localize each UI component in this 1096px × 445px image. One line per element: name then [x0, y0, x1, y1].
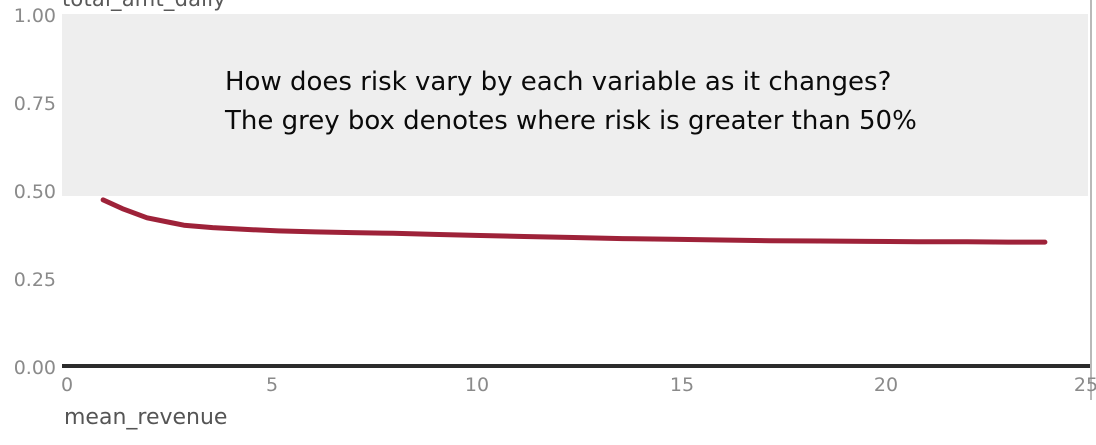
chart-annotation: How does risk vary by each variable as i…: [225, 63, 917, 141]
x-tick-label-15: 15: [670, 374, 694, 396]
y-tick-label-0.50: 0.50: [14, 181, 56, 203]
plot-right-border: [1090, 0, 1092, 400]
y-tick-label-0.00: 0.00: [14, 357, 56, 379]
x-axis-label: mean_revenue: [64, 405, 227, 430]
x-tick-label-20: 20: [874, 374, 898, 396]
chart-root: total_amt_daily How does risk vary by ea…: [0, 0, 1096, 445]
annotation-line-1: How does risk vary by each variable as i…: [225, 63, 917, 102]
annotation-line-2: The grey box denotes where risk is great…: [225, 102, 917, 141]
risk-line-series: [103, 200, 1045, 242]
y-tick-label-0.25: 0.25: [14, 269, 56, 291]
y-tick-label-0.75: 0.75: [14, 93, 56, 115]
x-tick-label-10: 10: [465, 374, 489, 396]
chart-title: total_amt_daily: [62, 0, 226, 11]
x-tick-label-5: 5: [266, 374, 278, 396]
x-axis-line: [62, 364, 1090, 368]
x-tick-label-25: 25: [1074, 374, 1096, 396]
x-tick-label-0: 0: [61, 374, 73, 396]
y-tick-label-1.00: 1.00: [14, 5, 56, 27]
